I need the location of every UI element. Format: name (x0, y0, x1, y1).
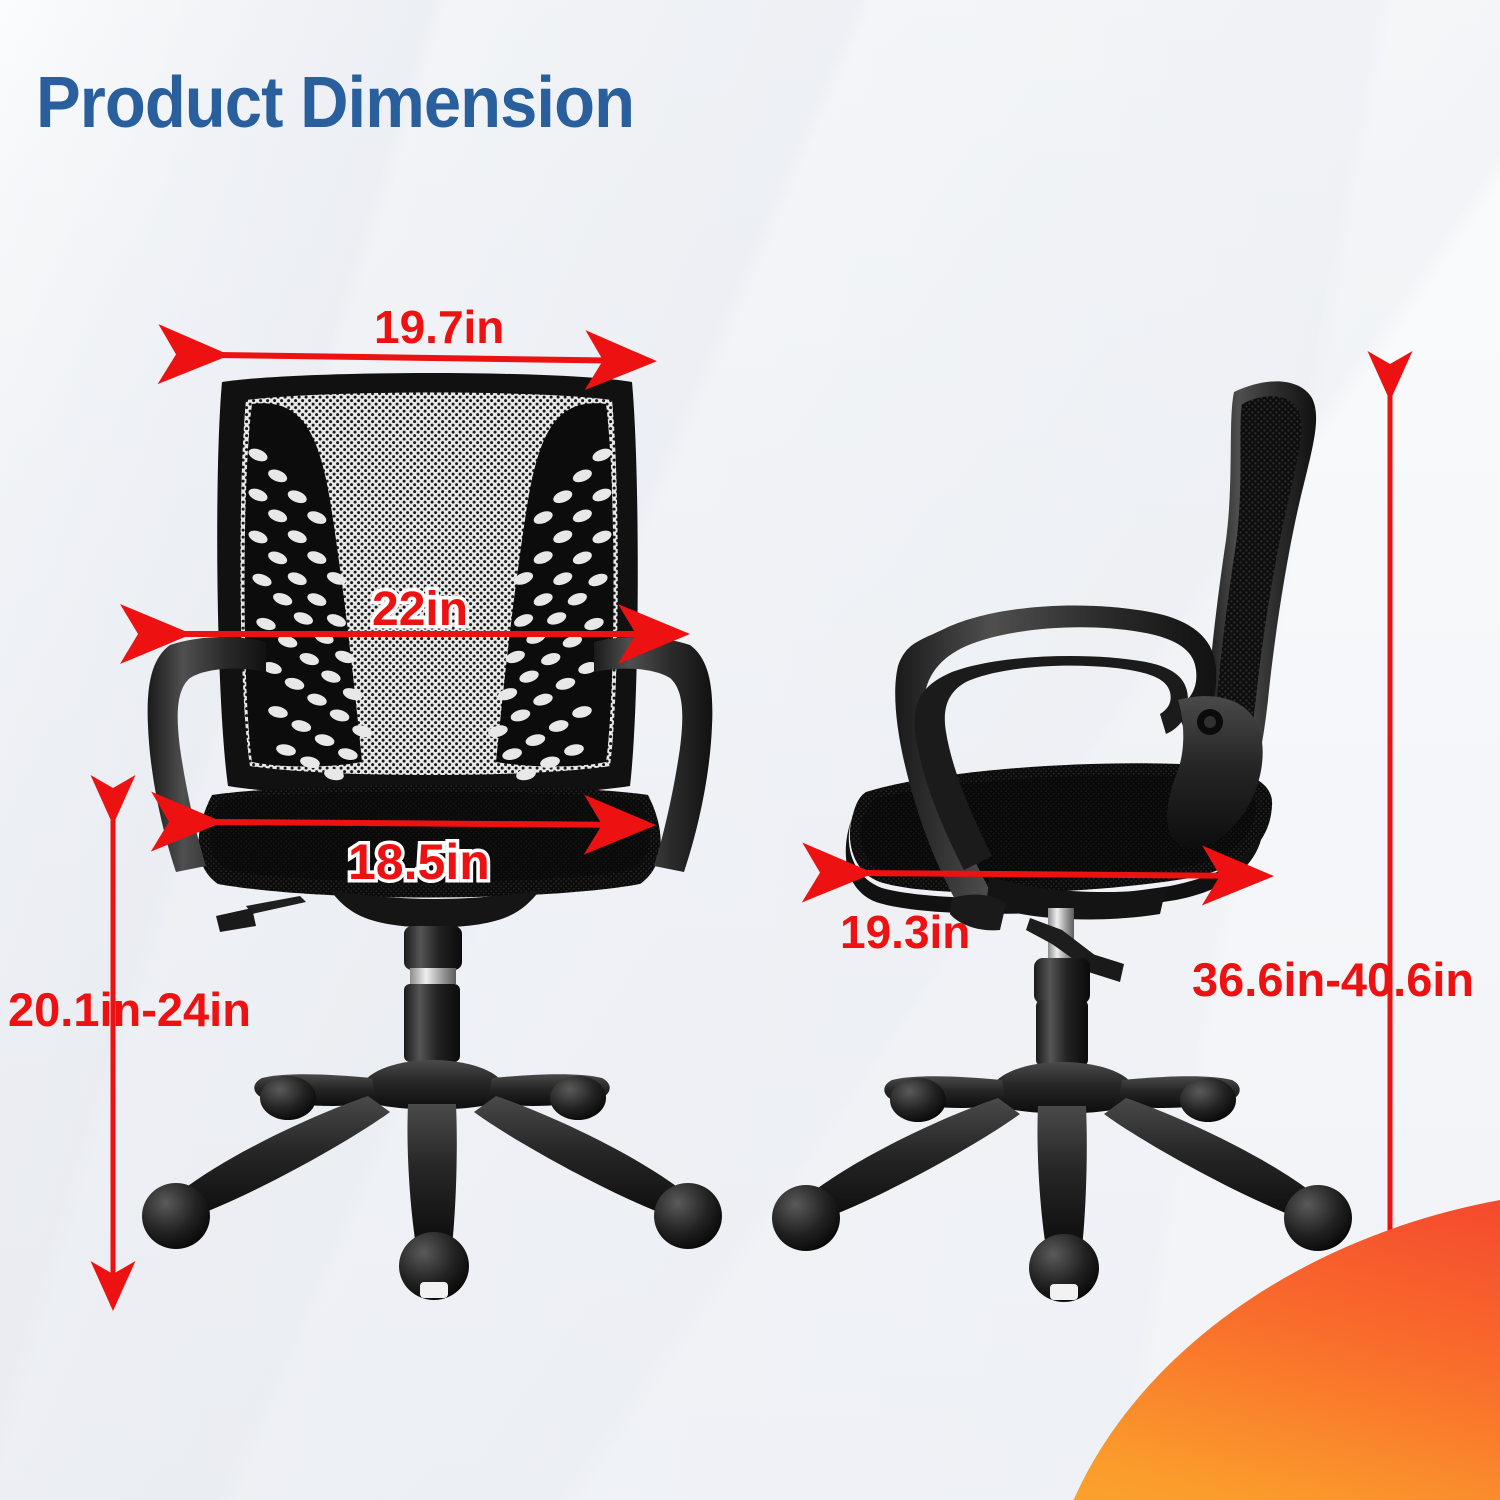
arrow-seat-depth (862, 873, 1262, 876)
page-title: Product Dimension (36, 62, 634, 144)
dimension-label-seat-depth: 19.3in (840, 905, 970, 959)
dimension-label-seat-width: 18.5in (348, 833, 490, 891)
front-base (142, 1060, 722, 1300)
corner-accent-graphic (999, 1192, 1500, 1500)
side-base (772, 1062, 1352, 1302)
dimension-label-overall-height: 36.6in-40.6in (1192, 952, 1474, 1007)
arrow-back-width (218, 355, 645, 361)
arrow-seat-width (211, 822, 644, 825)
infographic-canvas: Product Dimension (0, 0, 1500, 1500)
chair-illustrations (0, 0, 1500, 1500)
dimension-arrows (0, 0, 1500, 1500)
dimension-label-seat-height: 20.1in-24in (8, 982, 251, 1037)
dimension-label-overall-width: 22in (372, 582, 468, 637)
dimension-label-back-width: 19.7in (374, 300, 504, 354)
side-view-chair (772, 381, 1352, 1302)
